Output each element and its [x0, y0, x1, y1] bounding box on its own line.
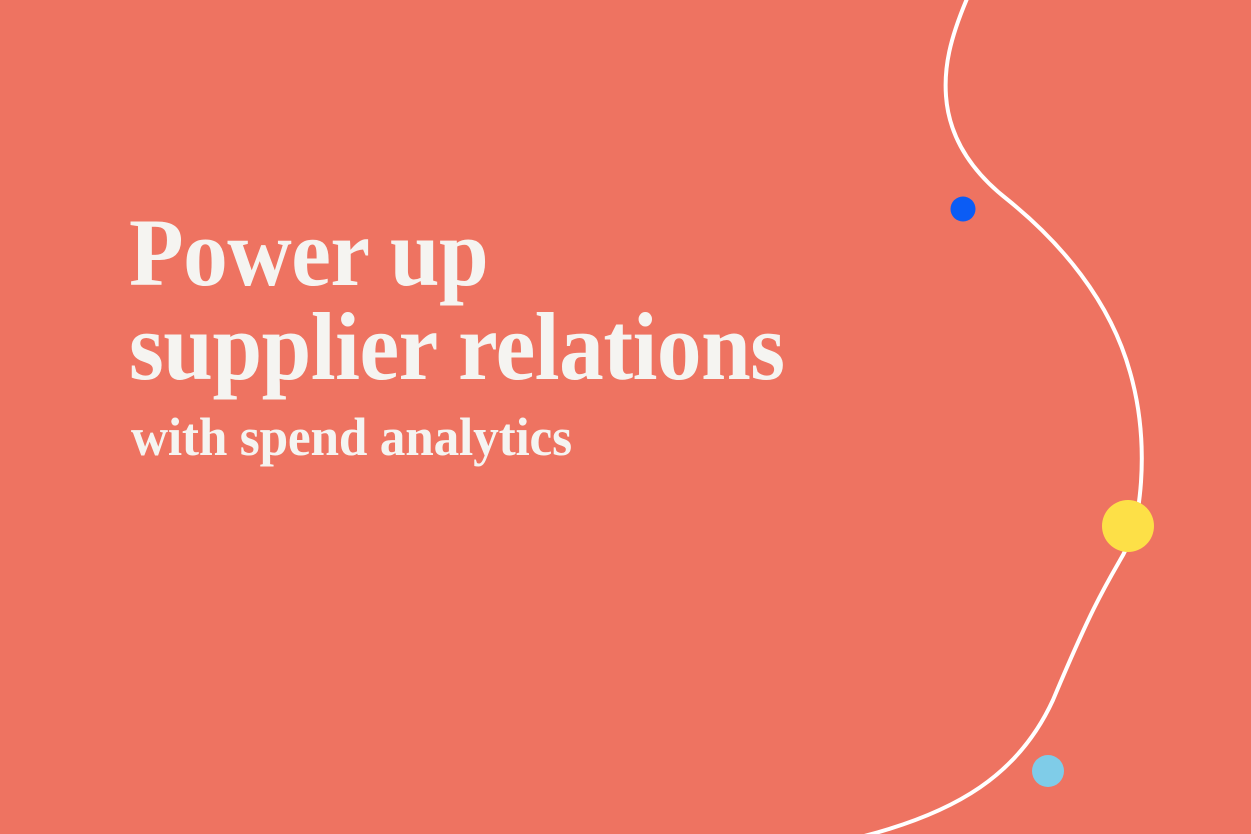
yellow-circle-icon: [1102, 500, 1154, 552]
headline-line-2: supplier relations: [129, 300, 947, 394]
subhead-text: with spend analytics: [131, 408, 965, 466]
hero-banner: Power up supplier relations with spend a…: [0, 0, 1251, 834]
headline-block: Power up supplier relations with spend a…: [129, 206, 1009, 466]
headline-line-1: Power up: [129, 206, 947, 300]
light-blue-circle-icon: [1032, 755, 1064, 787]
